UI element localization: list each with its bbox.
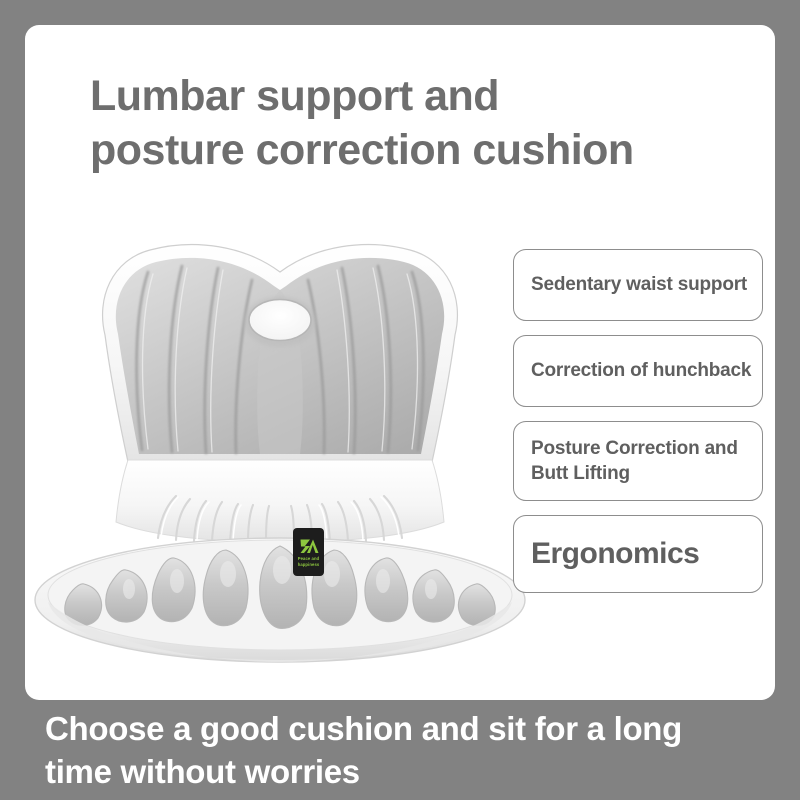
- waist-shell: [116, 460, 444, 542]
- product-poster: Lumbar support and posture correction cu…: [0, 0, 800, 800]
- feature-label: Ergonomics: [531, 534, 699, 574]
- brand-logo-icon: [299, 537, 319, 555]
- feature-box-posture-correction-butt-lifting[interactable]: Posture Correction and Butt Lifting: [513, 421, 763, 501]
- product-image: [30, 210, 530, 680]
- badge-tagline-line2: happiness: [298, 562, 320, 568]
- feature-label: Posture Correction and Butt Lifting: [531, 436, 754, 486]
- cushion-illustration: [30, 210, 530, 680]
- page-title: Lumbar support and posture correction cu…: [90, 70, 740, 178]
- content-panel: Lumbar support and posture correction cu…: [25, 25, 775, 700]
- feature-label: Sedentary waist support: [531, 272, 747, 297]
- oval-cutout: [249, 300, 311, 341]
- brand-badge: Peace and happiness: [293, 528, 324, 576]
- caption-text: Choose a good cushion and sit for a long…: [45, 708, 775, 794]
- feature-box-correction-of-hunchback[interactable]: Correction of hunchback: [513, 335, 763, 407]
- feature-box-sedentary-waist-support[interactable]: Sedentary waist support: [513, 249, 763, 321]
- feature-list: Sedentary waist support Correction of hu…: [513, 249, 763, 593]
- feature-label: Correction of hunchback: [531, 358, 751, 383]
- caption-band: Choose a good cushion and sit for a long…: [0, 700, 800, 800]
- feature-box-ergonomics[interactable]: Ergonomics: [513, 515, 763, 593]
